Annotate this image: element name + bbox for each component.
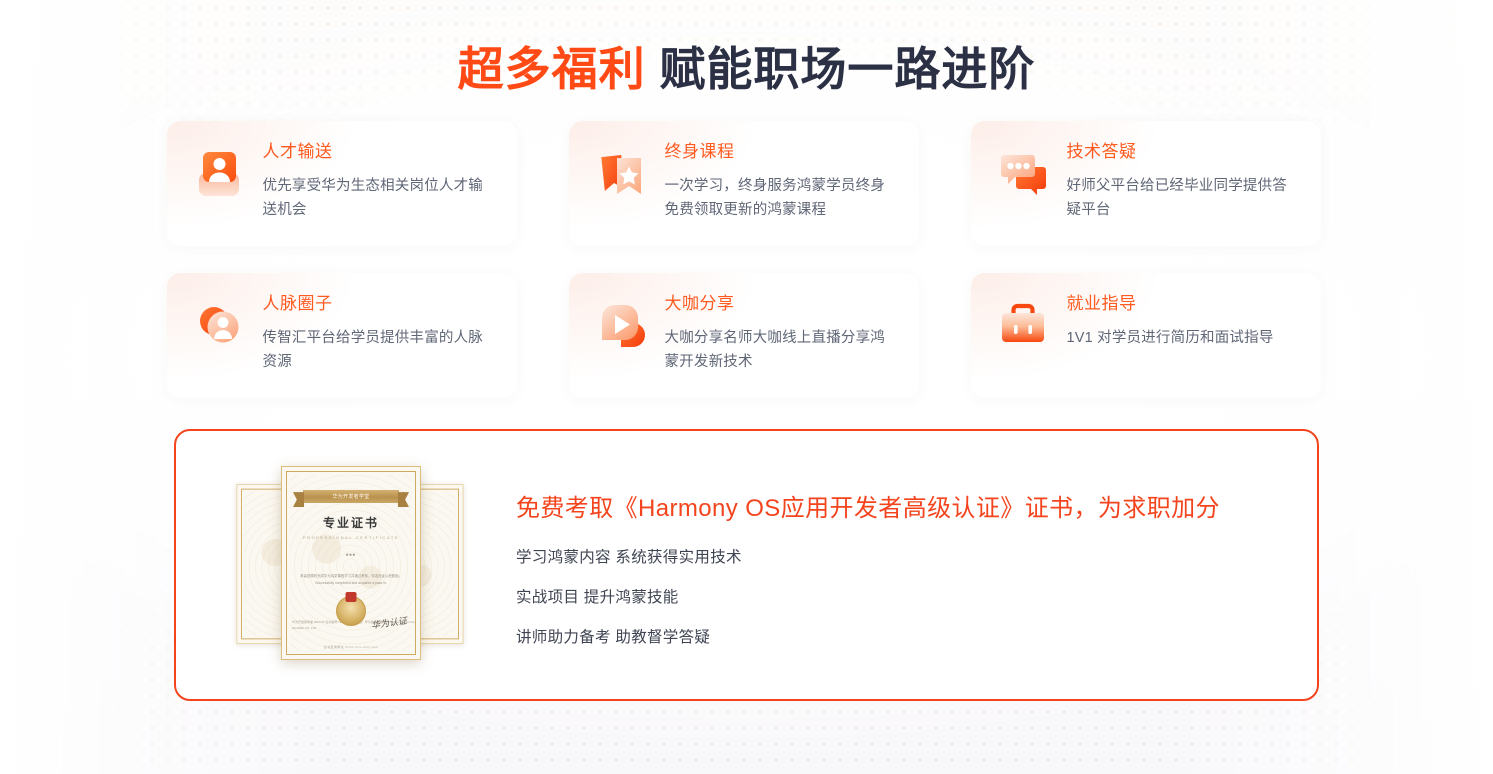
certificate-banner-text: 免费考取《Harmony OS应用开发者高级认证》证书，为求职加分 学习鸿蒙内容… bbox=[516, 484, 1220, 647]
certificate-image-front: 华为开发者学堂 专业证书 PROFESSIONAL CERTIFICATE **… bbox=[281, 466, 421, 660]
benefit-card-text: 大咖分享 大咖分享名师大咖线上直播分享鸿蒙开发新技术 bbox=[665, 293, 897, 375]
benefit-card-desc: 1V1 对学员进行简历和面试指导 bbox=[1067, 326, 1274, 351]
benefit-card-title: 大咖分享 bbox=[665, 294, 897, 314]
benefit-card-network-circle[interactable]: 人脉圈子 传智汇平台给学员提供丰富的人脉资源 bbox=[167, 273, 517, 398]
benefit-card-title: 技术答疑 bbox=[1067, 142, 1299, 162]
certificate-holder-name: *** bbox=[346, 554, 356, 560]
benefit-card-title: 人脉圈子 bbox=[263, 294, 495, 314]
certificate-banner-bullets: 学习鸿蒙内容 系统获得实用技术 实战项目 提升鸿蒙技能 讲师助力备考 助教督学答… bbox=[516, 545, 1220, 647]
briefcase-icon bbox=[995, 297, 1051, 353]
benefit-card-text: 技术答疑 好师父平台给已经毕业同学提供答疑平台 bbox=[1067, 141, 1299, 223]
benefit-card-talent-delivery[interactable]: 人才输送 优先享受华为生态相关岗位人才输送机会 bbox=[167, 121, 517, 246]
certificate-subtitle: PROFESSIONAL CERTIFICATE bbox=[303, 535, 399, 540]
benefit-card-desc: 好师父平台给已经毕业同学提供答疑平台 bbox=[1067, 174, 1299, 224]
benefit-card-text: 就业指导 1V1 对学员进行简历和面试指导 bbox=[1067, 293, 1274, 350]
chat-bubbles-icon bbox=[995, 145, 1051, 201]
bookmark-star-icon bbox=[593, 145, 649, 201]
benefit-card-desc: 传智汇平台给学员提供丰富的人脉资源 bbox=[263, 326, 495, 376]
certificate-seal-icon bbox=[336, 596, 366, 626]
benefit-card-desc: 大咖分享名师大咖线上直播分享鸿蒙开发新技术 bbox=[665, 326, 897, 376]
benefit-card-expert-sharing[interactable]: 大咖分享 大咖分享名师大咖线上直播分享鸿蒙开发新技术 bbox=[569, 273, 919, 398]
play-button-icon bbox=[593, 297, 649, 353]
benefit-card-career-guidance[interactable]: 就业指导 1V1 对学员进行简历和面试指导 bbox=[971, 273, 1321, 398]
benefit-card-title: 就业指导 bbox=[1067, 294, 1274, 314]
benefit-card-text: 终身课程 一次学习，终身服务鸿蒙学员终身免费领取更新的鸿蒙课程 bbox=[665, 141, 897, 223]
person-badge-icon bbox=[191, 145, 247, 201]
benefit-card-text: 人脉圈子 传智汇平台给学员提供丰富的人脉资源 bbox=[263, 293, 495, 375]
people-circles-icon bbox=[191, 297, 247, 353]
certificate-images: 华为开发者学堂 专业证书 PROFESSIONAL CERTIFICATE **… bbox=[226, 465, 474, 665]
certificate-ribbon: 华为开发者学堂 bbox=[303, 490, 399, 503]
benefit-card-lifetime-course[interactable]: 终身课程 一次学习，终身服务鸿蒙学员终身免费领取更新的鸿蒙课程 bbox=[569, 121, 919, 246]
benefit-card-tech-qa[interactable]: 技术答疑 好师父平台给已经毕业同学提供答疑平台 bbox=[971, 121, 1321, 246]
certificate-body-text: 恭喜您顺利完成华为鸿蒙课程学习并通过考核，特发此证以资鼓励。 Successfu… bbox=[299, 573, 403, 586]
benefit-card-desc: 优先享受华为生态相关岗位人才输送机会 bbox=[263, 174, 495, 224]
certificate-title: 专业证书 bbox=[323, 514, 379, 531]
benefit-card-title: 终身课程 bbox=[665, 142, 897, 162]
page-title-rest: 赋能职场一路进阶 bbox=[659, 43, 1035, 95]
certificate-bullet: 实战项目 提升鸿蒙技能 bbox=[516, 585, 1220, 607]
benefits-grid: 人才输送 优先享受华为生态相关岗位人才输送机会 bbox=[167, 121, 1327, 398]
page-title-highlight: 超多福利 bbox=[458, 43, 646, 95]
page-title: 超多福利 赋能职场一路进阶 bbox=[0, 0, 1493, 97]
benefit-card-title: 人才输送 bbox=[263, 142, 495, 162]
certificate-banner-title: 免费考取《Harmony OS应用开发者高级认证》证书，为求职加分 bbox=[516, 488, 1220, 523]
certificate-banner[interactable]: 华为开发者学堂 专业证书 PROFESSIONAL CERTIFICATE **… bbox=[174, 429, 1319, 701]
certificate-bullet: 讲师助力备考 助教督学答疑 bbox=[516, 625, 1220, 647]
promo-page: 超多福利 赋能职场一路进阶 bbox=[0, 0, 1493, 774]
certificate-bullet: 学习鸿蒙内容 系统获得实用技术 bbox=[516, 545, 1220, 567]
benefit-card-desc: 一次学习，终身服务鸿蒙学员终身免费领取更新的鸿蒙课程 bbox=[665, 174, 897, 224]
benefit-card-text: 人才输送 优先享受华为生态相关岗位人才输送机会 bbox=[263, 141, 495, 223]
